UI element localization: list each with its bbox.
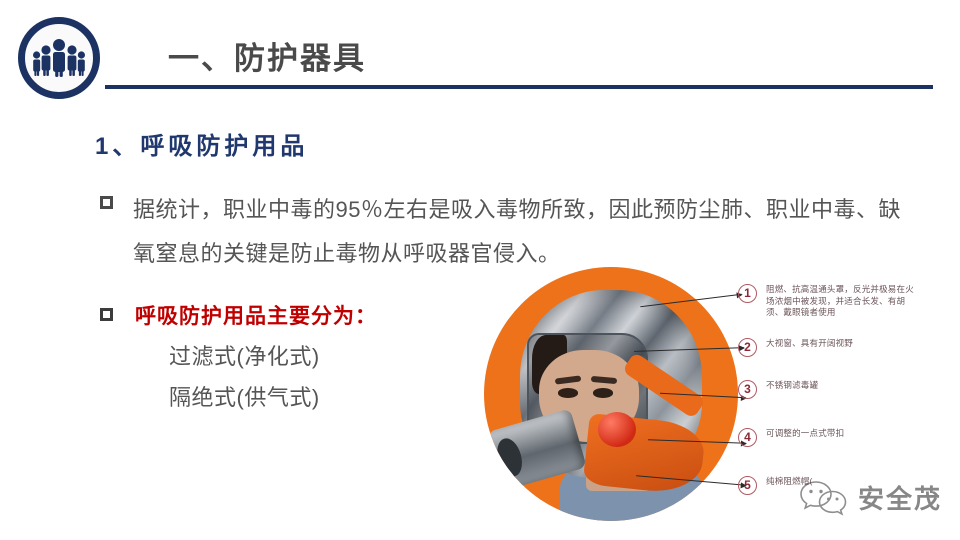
bullet-category-list: 呼吸防护用品主要分为： 过滤式(净化式) 隔绝式(供气式) [100,300,500,412]
wechat-bubble-icon [798,478,850,516]
section-subtitle: 1、呼吸防护用品 [95,126,308,161]
category-item-isolating: 隔绝式(供气式) [169,380,500,412]
square-bullet-icon [100,308,113,321]
group-of-people-logo [18,17,100,99]
annotation-number-2: 2 [738,338,757,357]
photo-brow-right [591,376,617,384]
slide: 一、防护器具 1、呼吸防护用品 据统计，职业中毒的95％左右是吸入毒物所致，因此… [0,0,960,540]
annotation-item: 1 阻燃、抗高温通头罩，反光并极易在火场浓烟中被发现，并适合长发、有胡须、戴眼镜… [738,284,914,319]
watermark: 安全茂 [798,478,942,516]
square-bullet-icon [100,196,113,209]
category-heading: 呼吸防护用品主要分为： [135,300,500,330]
page-title: 一、防护器具 [168,33,366,78]
annotation-number-1: 1 [738,284,757,303]
watermark-text: 安全茂 [858,479,942,516]
photo-eye-right [593,388,613,397]
annotation-number-3: 3 [738,380,757,399]
bullet-paragraph: 据统计，职业中毒的95％左右是吸入毒物所致，因此预防尘肺、职业中毒、缺氧窒息的关… [100,188,910,276]
header-divider [105,85,933,89]
annotation-text-1: 阻燃、抗高温通头罩，反光并极易在火场浓烟中被发现，并适合长发、有胡须、戴眼镜者使… [766,284,914,319]
annotation-item: 3 不锈钢滤毒罐 [738,380,818,399]
annotation-item: 4 可调整的一点式带扣 [738,428,844,447]
annotation-text-4: 可调整的一点式带扣 [766,428,844,440]
bullet-paragraph-text: 据统计，职业中毒的95％左右是吸入毒物所致，因此预防尘肺、职业中毒、缺氧窒息的关… [133,188,910,276]
category-item-filtering: 过滤式(净化式) [169,339,500,371]
annotation-item: 2 大视窗、具有开阔视野 [738,338,853,357]
slide-header: 一、防护器具 [0,0,960,110]
annotation-number-4: 4 [738,428,757,447]
annotation-text-2: 大视窗、具有开阔视野 [766,338,853,350]
annotation-number-5: 5 [738,476,757,495]
photo-eye-left [558,388,578,397]
annotation-text-3: 不锈钢滤毒罐 [766,380,818,392]
photo-brow-left [554,376,581,385]
